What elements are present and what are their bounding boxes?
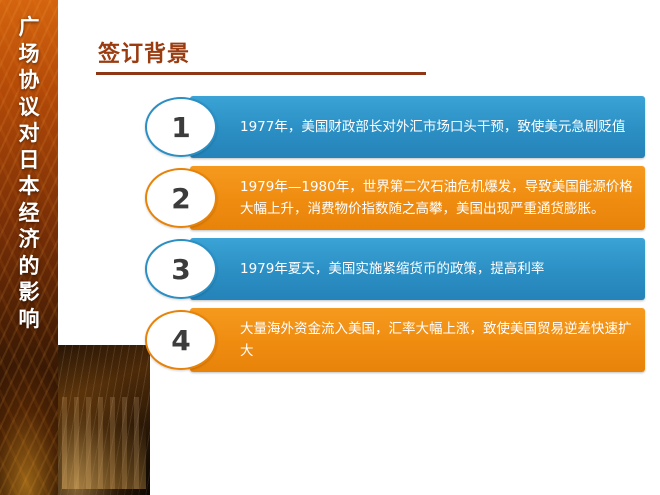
page-title: 签订背景: [98, 36, 190, 68]
title-underline: [96, 72, 426, 75]
vertical-title-char: 协: [0, 67, 58, 94]
list-item-text: 大量海外资金流入美国，汇率大幅上涨，致使美国贸易逆差快速扩大: [240, 318, 633, 362]
list-item-text: 1979年夏天，美国实施紧缩货币的政策，提高利率: [240, 258, 544, 280]
vertical-title-char: 响: [0, 306, 58, 333]
list-item-number: 1: [145, 97, 217, 157]
list-item-number: 3: [145, 239, 217, 299]
vertical-title-char: 影: [0, 279, 58, 306]
list-item: 1977年，美国财政部长对外汇市场口头干预，致使美元急剧贬值 1: [145, 96, 645, 158]
list-item: 大量海外资金流入美国，汇率大幅上涨，致使美国贸易逆差快速扩大 4: [145, 308, 645, 372]
photo-strip-shine: [58, 345, 150, 495]
vertical-title-char: 广: [0, 14, 58, 41]
list-item: 1979年夏天，美国实施紧缩货币的政策，提高利率 3: [145, 238, 645, 300]
list-item-text: 1979年—1980年，世界第二次石油危机爆发，导致美国能源价格大幅上升，消费物…: [240, 176, 633, 220]
list-item-text: 1977年，美国财政部长对外汇市场口头干预，致使美元急剧贬值: [240, 116, 625, 138]
vertical-title-char: 济: [0, 226, 58, 253]
vertical-title-char: 的: [0, 253, 58, 280]
slide-canvas: 广 场 协 议 对 日 本 经 济 的 影 响 签订背景 1977年，美国财政部…: [0, 0, 660, 495]
vertical-title-char: 场: [0, 41, 58, 68]
list-item-bar: 1979年夏天，美国实施紧缩货币的政策，提高利率: [190, 238, 645, 300]
vertical-title-char: 经: [0, 200, 58, 227]
vertical-title: 广 场 协 议 对 日 本 经 济 的 影 响: [0, 14, 58, 332]
list-item-number: 2: [145, 168, 217, 228]
vertical-title-char: 议: [0, 94, 58, 121]
vertical-title-char: 对: [0, 120, 58, 147]
list-item: 1979年—1980年，世界第二次石油危机爆发，导致美国能源价格大幅上升，消费物…: [145, 166, 645, 230]
list-item-number: 4: [145, 310, 217, 370]
vertical-title-char: 日: [0, 147, 58, 174]
list-item-bar: 1979年—1980年，世界第二次石油危机爆发，导致美国能源价格大幅上升，消费物…: [190, 166, 645, 230]
decorative-photo-strip: [58, 345, 150, 495]
content-list: 1977年，美国财政部长对外汇市场口头干预，致使美元急剧贬值 1 1979年—1…: [145, 96, 645, 380]
list-item-bar: 1977年，美国财政部长对外汇市场口头干预，致使美元急剧贬值: [190, 96, 645, 158]
vertical-title-char: 本: [0, 173, 58, 200]
list-item-bar: 大量海外资金流入美国，汇率大幅上涨，致使美国贸易逆差快速扩大: [190, 308, 645, 372]
vertical-title-band: 广 场 协 议 对 日 本 经 济 的 影 响: [0, 0, 58, 495]
band-glow: [0, 365, 58, 495]
